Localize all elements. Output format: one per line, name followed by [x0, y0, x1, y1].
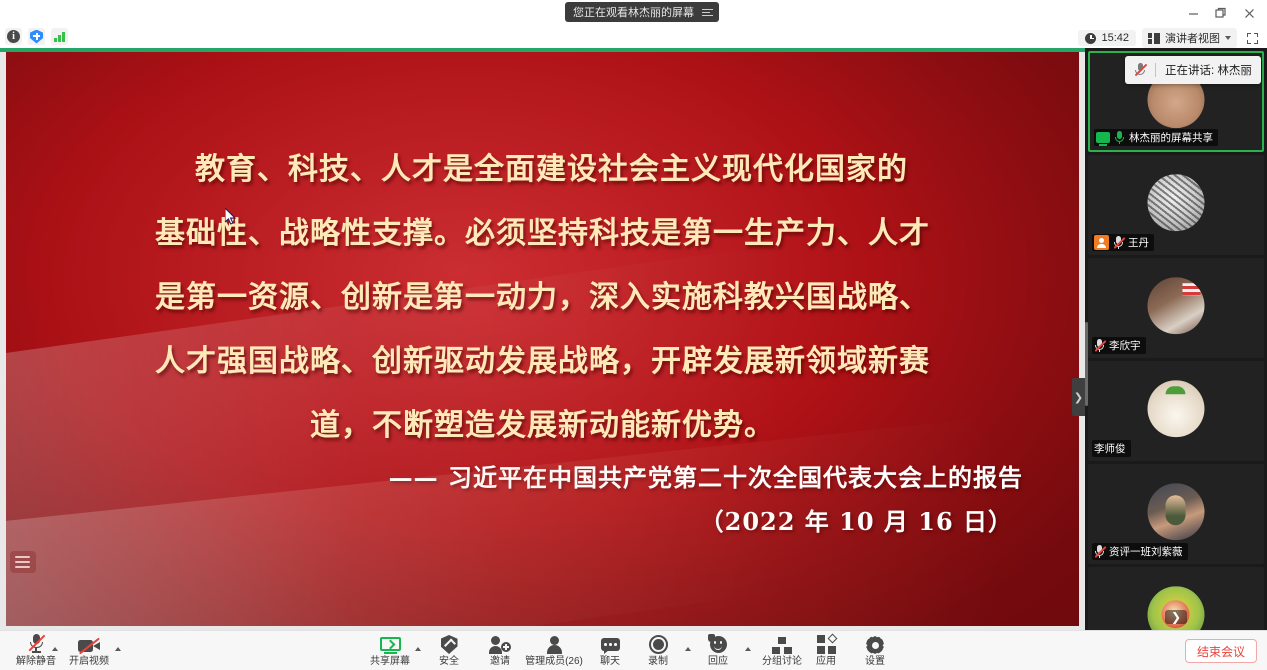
meeting-controls-bar: 解除静音 开启视频 共享屏幕 安全 邀请 [0, 630, 1267, 670]
screen-share-icon [1096, 132, 1110, 143]
screen-share-banner: 您正在观看林杰丽的屏幕 [565, 2, 719, 22]
shared-slide: 教育、科技、人才是全面建设社会主义现代化国家的 基础性、战略性支撑。必须坚持科技… [6, 52, 1079, 626]
mic-muted-icon [1113, 236, 1124, 249]
reactions-button[interactable]: 回应 [698, 633, 738, 670]
mouse-cursor [225, 208, 237, 226]
meeting-info-left: i [5, 28, 68, 45]
start-video-button[interactable]: 开启视频 [62, 633, 116, 670]
meeting-info-bar: i 15:42 演讲者视图 [0, 26, 1267, 48]
video-options-chevron-icon[interactable] [115, 647, 121, 651]
view-mode-label: 演讲者视图 [1165, 30, 1220, 46]
gear-icon [866, 636, 884, 654]
info-icon[interactable]: i [5, 28, 22, 45]
settings-button-label: 设置 [865, 656, 885, 667]
participant-name: 李欣宇 [1109, 338, 1141, 353]
record-circle-icon [649, 635, 668, 654]
reactions-options-chevron-icon[interactable] [745, 647, 751, 651]
reactions-button-label: 回应 [708, 656, 728, 667]
breakout-rooms-label: 分组讨论 [762, 656, 802, 667]
audio-options-chevron-icon[interactable] [52, 647, 58, 651]
chat-button-label: 聊天 [600, 656, 620, 667]
security-button-label: 安全 [439, 656, 459, 667]
meeting-timer[interactable]: 15:42 [1078, 30, 1136, 46]
record-button[interactable]: 录制 [638, 633, 678, 670]
breakout-rooms-button[interactable]: 分组讨论 [755, 633, 809, 670]
video-camera-muted-icon [78, 638, 100, 654]
shared-screen-stage: 教育、科技、人才是全面建设社会主义现代化国家的 基础性、战略性支撑。必须坚持科技… [0, 48, 1085, 630]
signal-bars-icon[interactable] [51, 28, 68, 45]
person-add-icon [489, 636, 511, 654]
mic-muted-icon [1094, 545, 1105, 558]
chevron-down-icon [1225, 36, 1231, 40]
fullscreen-button[interactable] [1243, 30, 1261, 47]
settings-button[interactable]: 设置 [855, 633, 895, 670]
slide-text-body: 教育、科技、人才是全面建设社会主义现代化国家的 基础性、战略性支撑。必须坚持科技… [6, 52, 1079, 626]
participant-name-badge: 李师俊 [1092, 440, 1131, 457]
share-screen-button-label: 共享屏幕 [370, 656, 410, 667]
slide-attribution-source: —— 习近平在中国共产党第二十次全国代表大会上的报告 [363, 456, 1023, 500]
slide-attribution-date: （2022 年 10 月 16 日） [363, 500, 1023, 544]
participant-sidebar[interactable]: 林杰丽的屏幕共享 正在讲话: 林杰丽 王丹 [1085, 48, 1267, 630]
hamburger-menu-icon[interactable] [702, 9, 713, 16]
mic-muted-icon [28, 633, 45, 654]
speech-bubble-icon [601, 638, 620, 654]
slide-line: 道，不断塑造发展新动能新优势。 [64, 394, 1021, 458]
meeting-timer-value: 15:42 [1101, 32, 1129, 44]
avatar [1148, 174, 1205, 231]
slide-attribution: —— 习近平在中国共产党第二十次全国代表大会上的报告 （2022 年 10 月 … [363, 456, 1023, 544]
participant-name: 资评一班刘紫薇 [1109, 544, 1183, 559]
screen-share-banner-text: 您正在观看林杰丽的屏幕 [573, 4, 694, 20]
slide-line: 人才强国战略、创新驱动发展战略，开辟发展新领域新赛 [64, 330, 1021, 394]
avatar [1148, 380, 1205, 437]
sidebar-scrollbar[interactable] [1085, 322, 1088, 406]
close-button[interactable] [1235, 1, 1263, 25]
avatar [1148, 483, 1205, 540]
end-meeting-label: 结束会议 [1197, 643, 1245, 660]
maximize-restore-button[interactable] [1207, 1, 1235, 25]
view-mode-selector[interactable]: 演讲者视图 [1142, 28, 1237, 48]
screen-share-icon [380, 637, 401, 654]
participant-name: 李师俊 [1094, 441, 1126, 456]
mute-button[interactable]: 解除静音 [8, 633, 64, 670]
mic-muted-icon [1134, 63, 1146, 77]
manage-participants-label: 管理成员(26) [525, 656, 583, 667]
mute-button-label: 解除静音 [16, 656, 56, 667]
emoji-reaction-icon [709, 635, 728, 654]
start-video-button-label: 开启视频 [69, 656, 109, 667]
participant-name-badge: 王丹 [1092, 234, 1154, 251]
mic-on-icon [1114, 131, 1125, 144]
meeting-info-right: 15:42 演讲者视图 [1078, 28, 1261, 48]
participant-tile[interactable]: 李师俊 [1088, 361, 1264, 461]
host-badge-icon [1094, 235, 1109, 250]
slide-line: 基础性、战略性支撑。必须坚持科技是第一生产力、人才 [64, 202, 1021, 266]
apps-button-label: 应用 [816, 656, 836, 667]
shield-check-icon [441, 635, 458, 654]
manage-participants-button[interactable]: 管理成员(26) [518, 633, 590, 670]
fullscreen-icon [1247, 33, 1258, 44]
shield-icon[interactable] [28, 28, 45, 45]
avatar [1148, 277, 1205, 334]
people-icon [545, 636, 563, 654]
zoom-meeting-window: 您正在观看林杰丽的屏幕 i [0, 0, 1267, 670]
mic-muted-icon [1094, 339, 1105, 352]
clock-icon [1085, 33, 1096, 44]
breakout-rooms-icon [772, 637, 792, 654]
share-options-chevron-icon[interactable] [415, 647, 421, 651]
window-controls [1179, 0, 1263, 26]
chevron-down-icon[interactable]: ❯ [1165, 610, 1187, 624]
title-bar: 您正在观看林杰丽的屏幕 [0, 0, 1267, 26]
end-meeting-button[interactable]: 结束会议 [1185, 639, 1257, 663]
apps-button[interactable]: 应用 [806, 633, 846, 670]
speaking-tooltip: 正在讲话: 林杰丽 [1125, 56, 1261, 84]
participant-tile[interactable]: 资评一班刘紫薇 [1088, 464, 1264, 564]
invite-button[interactable]: 邀请 [478, 633, 522, 670]
chat-button[interactable]: 聊天 [590, 633, 630, 670]
participant-tile[interactable]: 王丹 [1088, 155, 1264, 255]
record-button-label: 录制 [648, 656, 668, 667]
slide-line: 教育、科技、人才是全面建设社会主义现代化国家的 [64, 138, 1021, 202]
chevron-right-icon[interactable]: ❯ [1072, 378, 1085, 416]
participant-name-badge: 林杰丽的屏幕共享 [1094, 129, 1218, 146]
participant-name-badge: 资评一班刘紫薇 [1092, 543, 1188, 560]
participant-name-badge: 李欣宇 [1092, 337, 1146, 354]
record-options-chevron-icon[interactable] [685, 647, 691, 651]
apps-grid-icon [817, 635, 836, 654]
list-menu-icon[interactable] [10, 551, 36, 573]
share-screen-button[interactable]: 共享屏幕 [363, 633, 417, 670]
participant-tile[interactable]: 李欣宇 [1088, 258, 1264, 358]
speaking-tooltip-text: 正在讲话: 林杰丽 [1165, 62, 1252, 78]
invite-button-label: 邀请 [490, 656, 510, 667]
slide-line: 是第一资源、创新是第一动力，深入实施科教兴国战略、 [64, 266, 1021, 330]
security-button[interactable]: 安全 [429, 633, 469, 670]
participant-name: 林杰丽的屏幕共享 [1129, 130, 1213, 145]
speaker-view-icon [1148, 33, 1160, 44]
participant-name: 王丹 [1128, 235, 1149, 250]
minimize-button[interactable] [1179, 1, 1207, 25]
